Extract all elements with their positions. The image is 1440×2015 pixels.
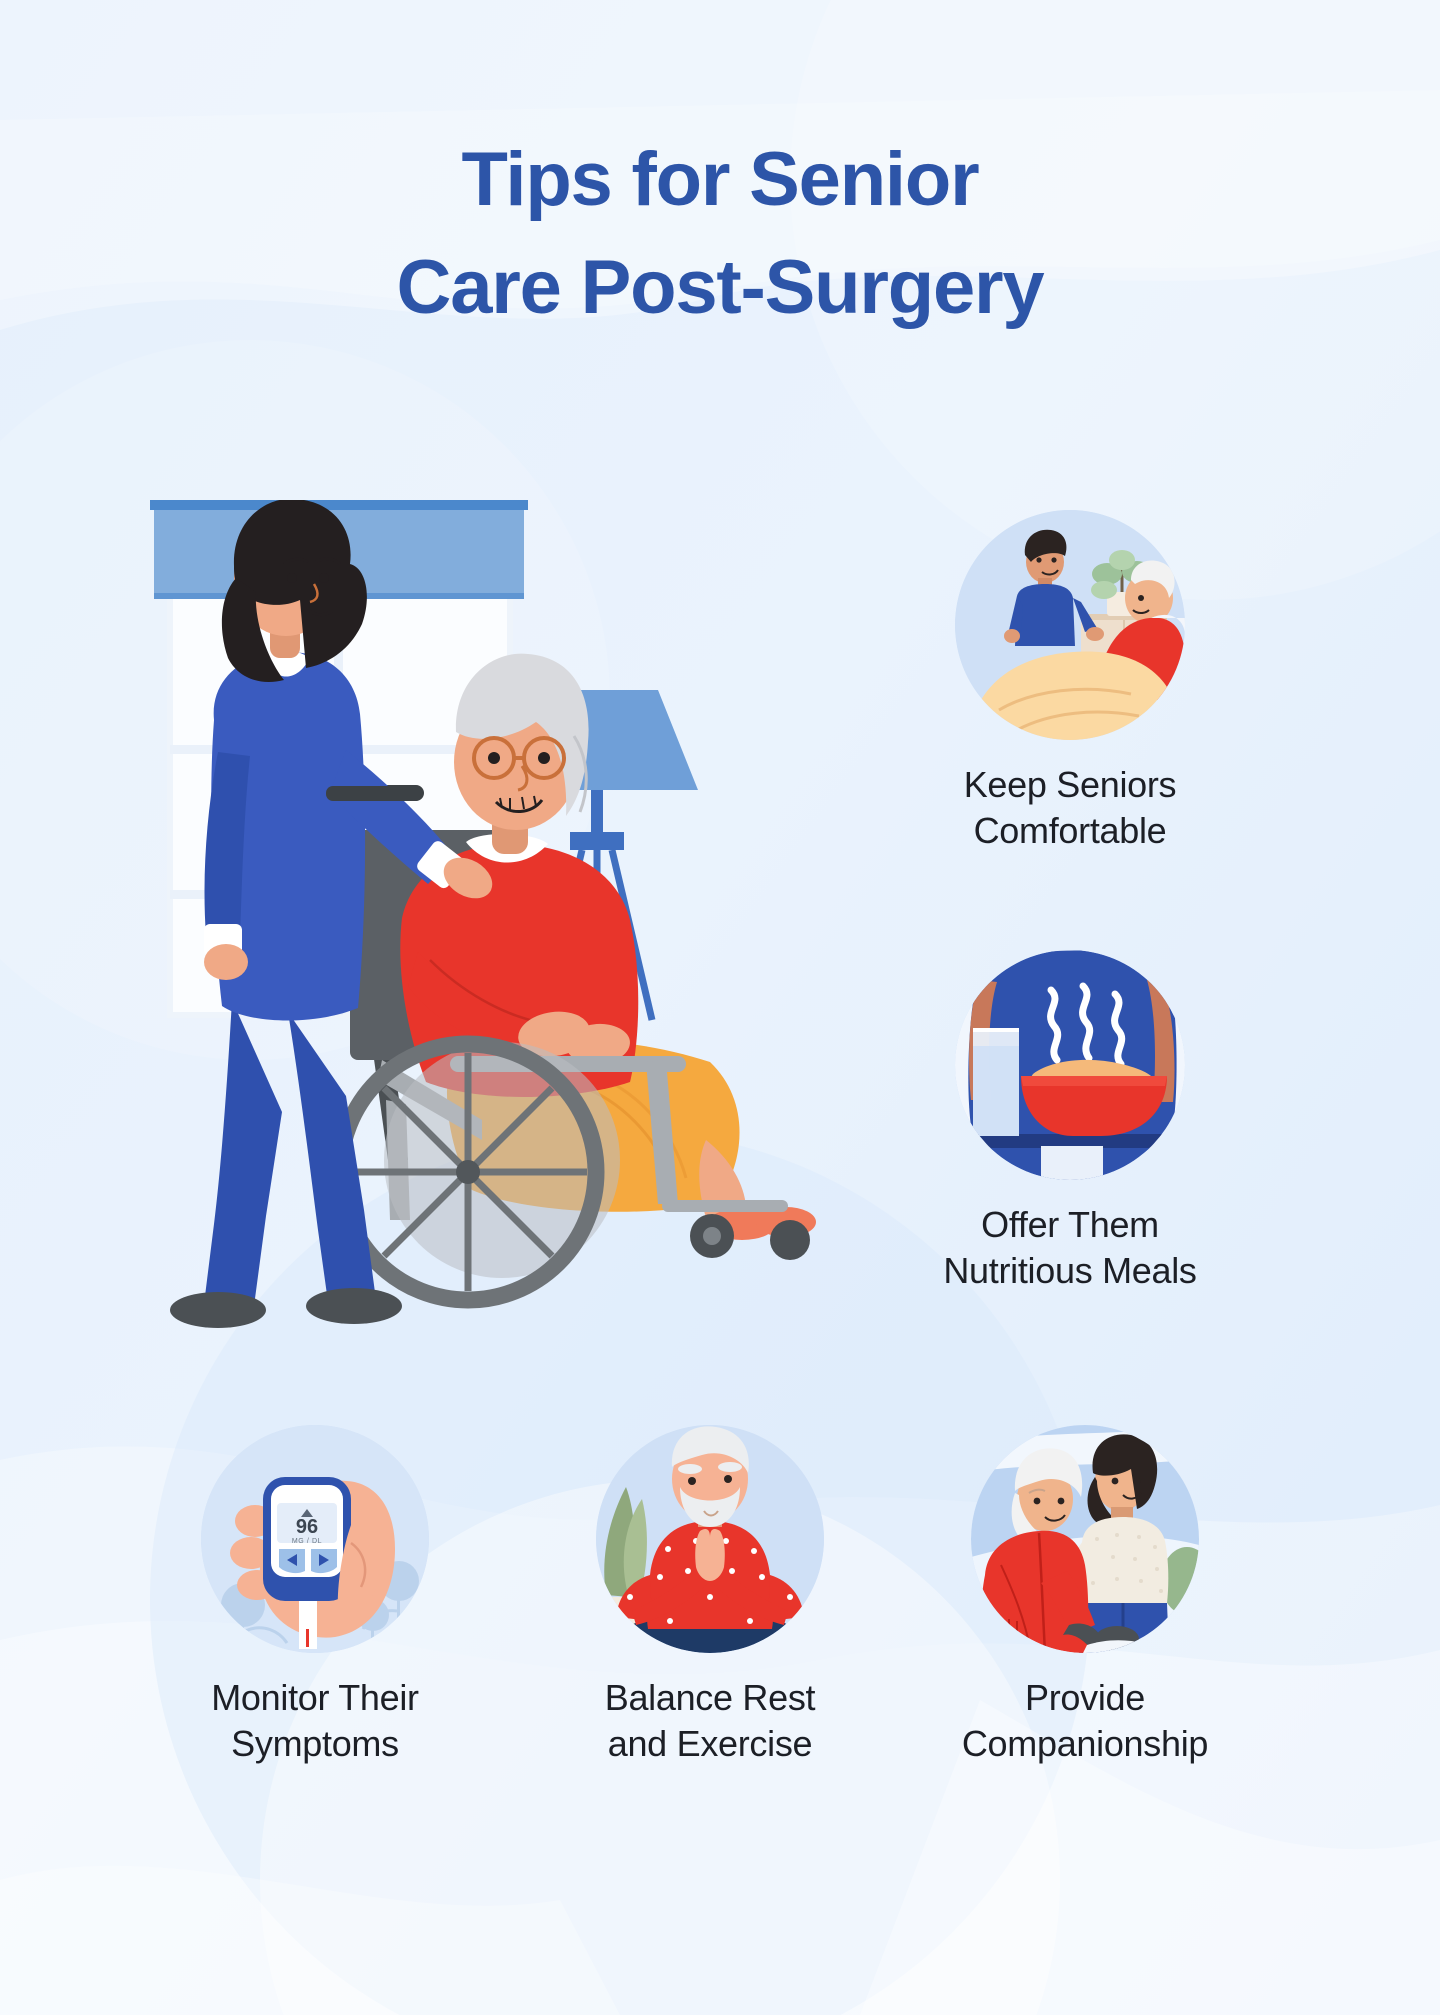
- tip-keep-seniors-comfortable: Keep Seniors Comfortable: [860, 510, 1280, 853]
- wheelchair-wheels: [340, 1042, 810, 1300]
- tip-caption: Keep Seniors Comfortable: [860, 762, 1280, 853]
- glucose-reading: 96: [296, 1516, 318, 1538]
- tip-caption: Balance Rest and Exercise: [545, 1675, 875, 1766]
- glucose-meter-in-hand-icon: 96 MG / DL: [201, 1425, 429, 1653]
- tip-caption: Offer Them Nutritious Meals: [860, 1202, 1280, 1293]
- glucose-unit: MG / DL: [292, 1538, 322, 1545]
- caregiver-with-bedridden-senior-icon: [955, 510, 1185, 740]
- title-line-2: Care Post-Surgery: [0, 234, 1440, 342]
- tip-caption: Provide Companionship: [915, 1675, 1255, 1766]
- page-title: Tips for Senior Care Post-Surgery: [0, 126, 1440, 342]
- infographic-poster: Tips for Senior Care Post-Surgery: [0, 0, 1440, 2015]
- hero-illustration: [150, 500, 890, 1330]
- senior-with-companion-icon: [971, 1425, 1199, 1653]
- senior-meditating-icon: [596, 1425, 824, 1653]
- tip-provide-companionship: Provide Companionship: [915, 1425, 1255, 1766]
- title-line-1: Tips for Senior: [0, 126, 1440, 234]
- steaming-soup-bowl-icon: [955, 950, 1185, 1180]
- tip-balance-rest-exercise: Balance Rest and Exercise: [545, 1425, 875, 1766]
- wheelchair-handle: [326, 786, 422, 801]
- tip-offer-nutritious-meals: Offer Them Nutritious Meals: [860, 950, 1280, 1293]
- tip-caption: Monitor Their Symptoms: [165, 1675, 465, 1766]
- tip-monitor-symptoms: 96 MG / DL Monitor Their Symptoms: [165, 1425, 465, 1766]
